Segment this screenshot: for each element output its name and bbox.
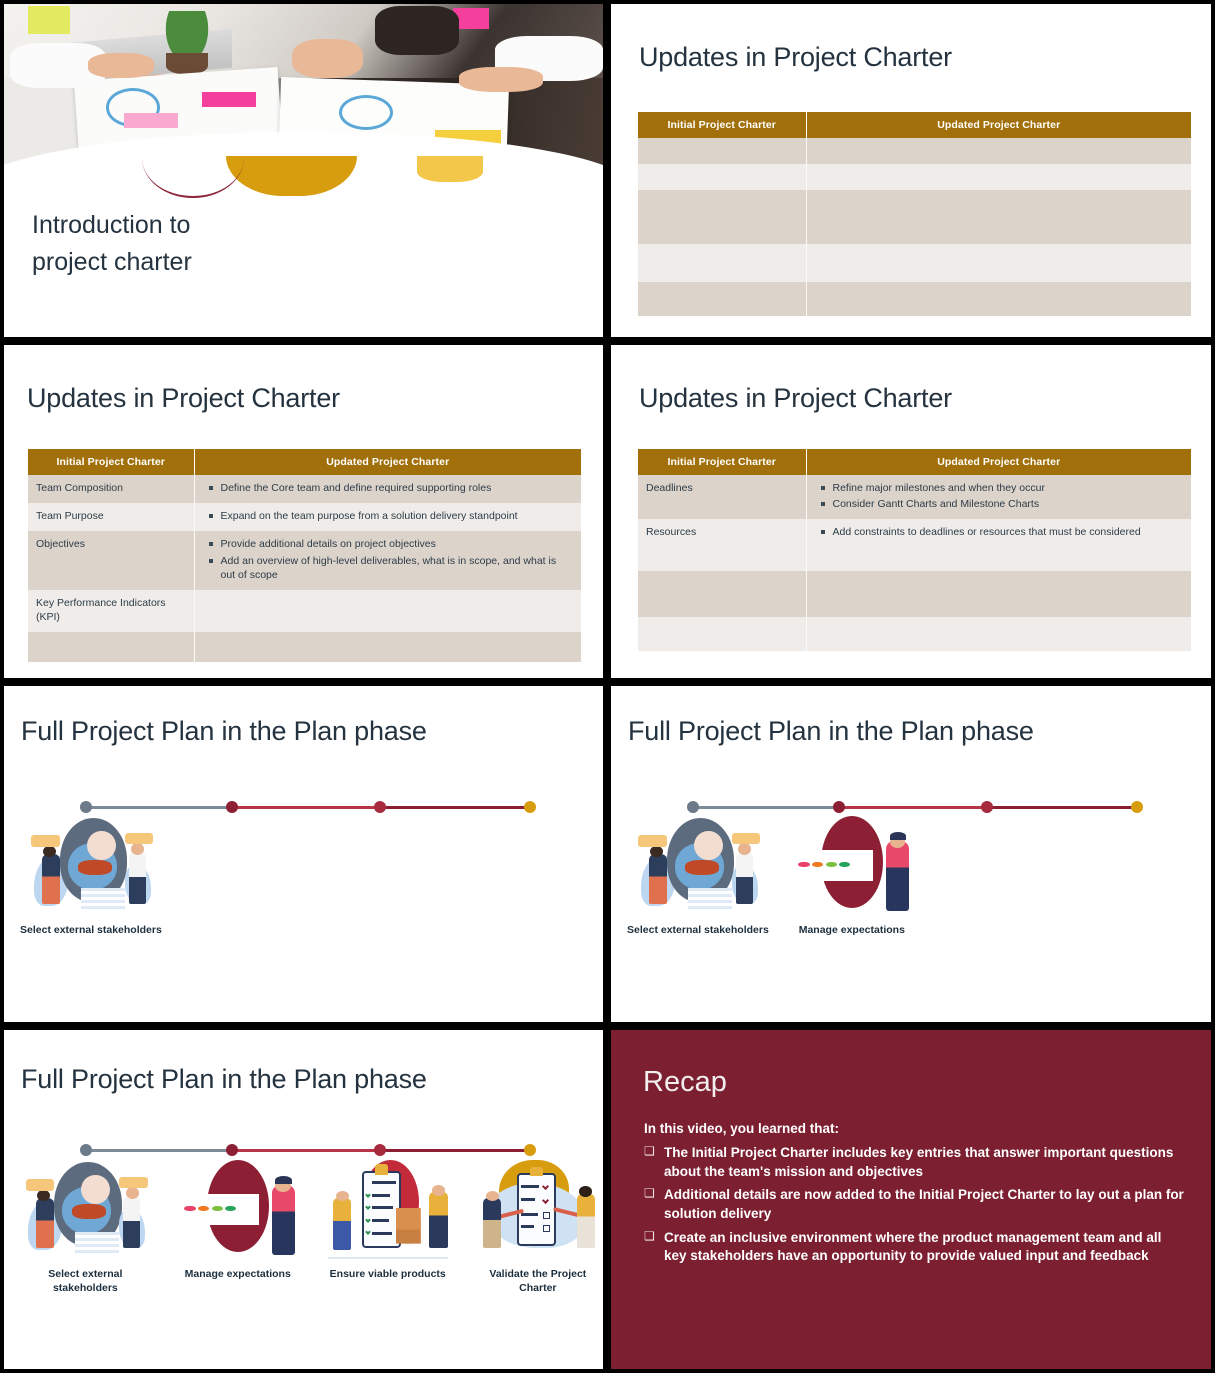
slide-plan-step1[interactable]: Full Project Plan in the Plan phase S [0, 682, 607, 1026]
timeline-dot-4 [524, 1144, 536, 1156]
column-header-initial: Initial Project Charter [638, 112, 806, 138]
plan-step[interactable]: Manage expectations [173, 1158, 303, 1295]
plan-step[interactable]: Manage expectations [787, 814, 917, 937]
stakeholders-illustration [26, 814, 156, 919]
page-title: Full Project Plan in the Plan phase [21, 716, 427, 747]
row-label: Objectives [28, 531, 194, 590]
table-row: Team Composition Define the Core team an… [28, 475, 581, 503]
row-detail: Define the Core team and define required… [194, 475, 581, 503]
timeline-dot-2 [226, 1144, 238, 1156]
recap-bullet: Additional details are now added to the … [644, 1186, 1184, 1223]
step-label: Validate the Project Charter [473, 1267, 603, 1295]
bullet: Consider Gantt Charts and Milestone Char… [815, 497, 1184, 511]
timeline-dot-3 [374, 801, 386, 813]
row-detail [194, 632, 581, 662]
page-title: Full Project Plan in the Plan phase [628, 716, 1034, 747]
table-row [638, 138, 1191, 164]
stakeholders-illustration [20, 1158, 150, 1263]
recap-bullet: Create an inclusive environment where th… [644, 1229, 1184, 1266]
bullet: Refine major milestones and when they oc… [815, 481, 1184, 495]
step-label: Ensure viable products [330, 1267, 446, 1281]
plan-step[interactable]: Select external stakeholders [18, 1158, 153, 1295]
plan-step[interactable]: Select external stakeholders [20, 814, 162, 937]
feedback-faces-illustration [787, 814, 917, 919]
slide-updates-part2[interactable]: Updates in Project Charter Initial Proje… [607, 341, 1215, 682]
slide-deck-grid: Introduction to project charter Updates … [0, 0, 1215, 1373]
row-detail: Expand on the team purpose from a soluti… [194, 503, 581, 531]
row-detail [806, 571, 1191, 617]
page-title: Updates in Project Charter [639, 383, 952, 414]
recap-bullet: The Initial Project Charter includes key… [644, 1144, 1184, 1181]
title-line-1: Introduction to [32, 207, 192, 244]
step-label: Manage expectations [185, 1267, 291, 1281]
row-detail: Refine major milestones and when they oc… [806, 475, 1191, 519]
phase-timeline [80, 800, 536, 814]
table-header-row: Initial Project Charter Updated Project … [638, 449, 1191, 475]
row-label [638, 571, 806, 617]
step-label: Select external stakeholders [627, 923, 769, 937]
timeline-dot-4 [524, 801, 536, 813]
feedback-faces-illustration [173, 1158, 303, 1263]
column-header-initial: Initial Project Charter [638, 449, 806, 475]
row-label: Resources [638, 519, 806, 571]
title-line-2: project charter [32, 244, 192, 281]
plan-step[interactable]: Validate the Project Charter [473, 1158, 603, 1295]
bullet: Add an overview of high-level deliverabl… [203, 554, 574, 582]
table-row: Key Performance Indicators (KPI) [28, 590, 581, 632]
timeline-dot-3 [981, 801, 993, 813]
recap-lead-text: In this video, you learned that: [644, 1121, 839, 1136]
timeline-dot-4 [1131, 801, 1143, 813]
page-title: Recap [643, 1066, 727, 1099]
stakeholders-illustration [633, 814, 763, 919]
slide-title: Introduction to project charter [32, 207, 192, 281]
table-row [638, 244, 1191, 282]
step-label: Select external stakeholders [20, 923, 162, 937]
yellow-accent-shape [417, 156, 483, 182]
page-title: Updates in Project Charter [639, 42, 952, 73]
checklist-boxes-illustration [323, 1158, 453, 1263]
row-label: Deadlines [638, 475, 806, 519]
table-row [638, 190, 1191, 244]
table-header-row: Initial Project Charter Updated Project … [28, 449, 581, 475]
column-header-updated: Updated Project Charter [806, 112, 1191, 138]
row-detail: Add constraints to deadlines or resource… [806, 519, 1191, 571]
slide-recap[interactable]: Recap In this video, you learned that: T… [607, 1026, 1215, 1373]
timeline-dot-1 [687, 801, 699, 813]
column-header-updated: Updated Project Charter [194, 449, 581, 475]
timeline-dot-3 [374, 1144, 386, 1156]
table-row [638, 571, 1191, 617]
slide-plan-step4[interactable]: Full Project Plan in the Plan phase S [0, 1026, 607, 1373]
table-header-row: Initial Project Charter Updated Project … [638, 112, 1191, 138]
bullet: Add constraints to deadlines or resource… [815, 525, 1184, 539]
row-label [28, 632, 194, 662]
timeline-dot-2 [226, 801, 238, 813]
row-label: Team Composition [28, 475, 194, 503]
bullet: Provide additional details on project ob… [203, 537, 574, 551]
page-title: Full Project Plan in the Plan phase [21, 1064, 427, 1095]
bullet: Expand on the team purpose from a soluti… [203, 509, 574, 523]
timeline-dot-1 [80, 801, 92, 813]
plan-step[interactable]: Ensure viable products [323, 1158, 453, 1295]
column-header-initial: Initial Project Charter [28, 449, 194, 475]
timeline-dot-1 [80, 1144, 92, 1156]
phase-timeline [80, 1143, 536, 1157]
recap-bullet-list: The Initial Project Charter includes key… [644, 1144, 1184, 1271]
row-label: Key Performance Indicators (KPI) [28, 590, 194, 632]
row-detail [806, 617, 1191, 651]
table-row [638, 164, 1191, 190]
slide-updates-empty[interactable]: Updates in Project Charter Initial Proje… [607, 0, 1215, 341]
row-label: Team Purpose [28, 503, 194, 531]
table-row [638, 617, 1191, 651]
table-row: Deadlines Refine major milestones and wh… [638, 475, 1191, 519]
table-row [28, 632, 581, 662]
slide-intro[interactable]: Introduction to project charter [0, 0, 607, 341]
phase-timeline [687, 800, 1143, 814]
timeline-dot-2 [833, 801, 845, 813]
column-header-updated: Updated Project Charter [806, 449, 1191, 475]
step-label: Manage expectations [799, 923, 905, 937]
row-detail: Provide additional details on project ob… [194, 531, 581, 590]
step-label: Select external stakeholders [18, 1267, 153, 1295]
slide-updates-part1[interactable]: Updates in Project Charter Initial Proje… [0, 341, 607, 682]
table-row: Objectives Provide additional details on… [28, 531, 581, 590]
slide-plan-step2[interactable]: Full Project Plan in the Plan phase S [607, 682, 1215, 1026]
row-label [638, 617, 806, 651]
table-row [638, 282, 1191, 316]
table-row: Resources Add constraints to deadlines o… [638, 519, 1191, 571]
checklist-approval-illustration [473, 1158, 603, 1263]
row-detail [194, 590, 581, 632]
page-title: Updates in Project Charter [27, 383, 340, 414]
plan-step[interactable]: Select external stakeholders [627, 814, 769, 937]
bullet: Define the Core team and define required… [203, 481, 574, 495]
table-row: Team Purpose Expand on the team purpose … [28, 503, 581, 531]
